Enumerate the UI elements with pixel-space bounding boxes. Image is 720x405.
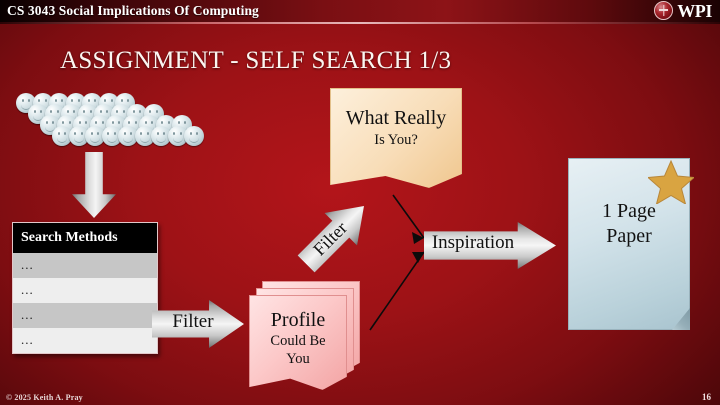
what-really-subtitle: Is You?	[330, 131, 462, 150]
wpi-seal-icon	[654, 1, 673, 20]
filter-arrow-label: Filter	[158, 311, 228, 333]
table-row: ...	[13, 303, 157, 328]
paper-line1: 1 Page	[602, 200, 656, 222]
what-really-title: What Really	[330, 106, 462, 131]
filter-arrow-up-right: Filter	[280, 180, 390, 290]
course-title: CS 3043 Social Implications Of Computing	[7, 3, 259, 19]
table-header: Search Methods	[13, 223, 157, 253]
what-really-label: What Really Is You?	[330, 106, 462, 150]
wpi-logo-text: WPI	[677, 2, 712, 20]
profile-line3: You	[249, 350, 347, 368]
page-number: 16	[702, 392, 711, 402]
presentation-slide: CS 3043 Social Implications Of Computing…	[0, 0, 720, 405]
copyright-notice: © 2025 Keith A. Pray	[6, 393, 83, 402]
inspiration-label: Inspiration	[424, 232, 522, 254]
crowd-of-people	[8, 93, 188, 155]
table-row: ...	[13, 278, 157, 303]
slide-title: ASSIGNMENT - SELF SEARCH 1/3	[60, 47, 451, 75]
paper-line2: Paper	[606, 225, 652, 247]
header-divider	[0, 22, 720, 24]
search-methods-table: Search Methods ... ... ... ...	[12, 222, 158, 354]
star-icon	[648, 160, 694, 204]
person-icon	[184, 126, 204, 146]
wpi-logo: WPI	[654, 1, 712, 20]
profile-line2: Could Be	[249, 332, 347, 350]
table-row: ...	[13, 328, 157, 353]
table-row: ...	[13, 253, 157, 278]
profile-title: Profile	[249, 308, 347, 332]
arrow-down-icon	[72, 152, 116, 218]
paper-label: 1 Page Paper	[568, 199, 690, 249]
profile-label: Profile Could Be You	[249, 308, 347, 368]
